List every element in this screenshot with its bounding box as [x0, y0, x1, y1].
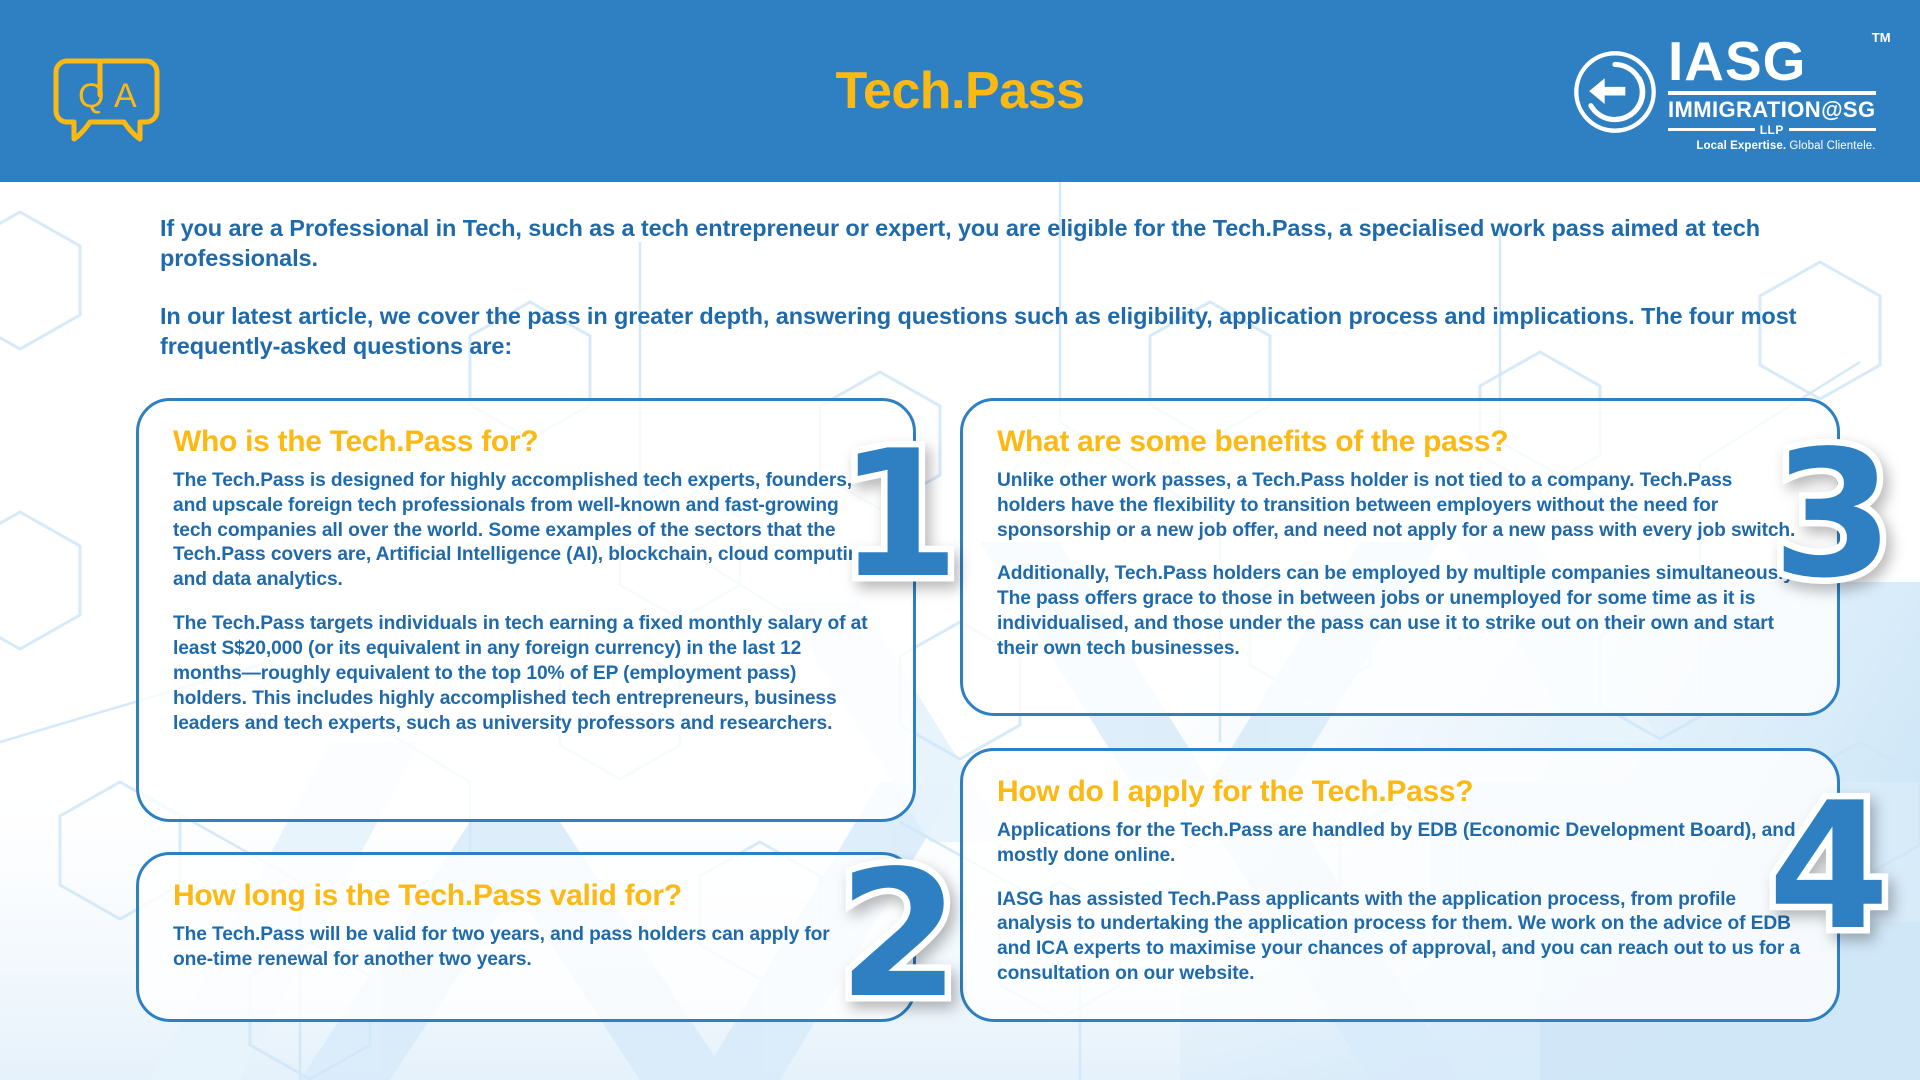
faq-card-1-heading: Who is the Tech.Pass for? [173, 425, 879, 459]
logo-trademark-symbol: TM [1872, 30, 1891, 45]
logo-tagline-regular: Global Clientele. [1786, 140, 1875, 152]
infographic-page: Q A Tech.Pass IASG TM IMMIGRATION@SG LLP [0, 0, 1920, 1080]
faq-card-3-number: 3 [1772, 428, 1894, 603]
intro-paragraph-1: If you are a Professional in Tech, such … [160, 214, 1800, 274]
faq-card-4-paragraph-2: IASG has assisted Tech.Pass applicants w… [997, 888, 1803, 988]
circular-arrow-logo-icon [1572, 49, 1658, 135]
faq-card-4-body: Applications for the Tech.Pass are handl… [997, 819, 1803, 988]
logo-subtitle: IMMIGRATION@SG [1668, 98, 1876, 121]
logo-tagline: Local Expertise. Global Clientele. [1668, 140, 1876, 152]
faq-card-3-body: Unlike other work passes, a Tech.Pass ho… [997, 469, 1803, 663]
faq-card-4-paragraph-1: Applications for the Tech.Pass are handl… [997, 819, 1803, 869]
faq-card-1-paragraph-2: The Tech.Pass targets individuals in tec… [173, 612, 873, 737]
logo-entity-row: LLP [1668, 123, 1876, 137]
faq-card-4-number: 4 [1768, 780, 1890, 955]
logo-entity-type: LLP [1760, 123, 1784, 137]
faq-card-3: What are some benefits of the pass? Unli… [960, 398, 1840, 716]
faq-card-2-body: The Tech.Pass will be valid for two year… [173, 923, 853, 973]
faq-card-1-paragraph-1: The Tech.Pass is designed for highly acc… [173, 469, 873, 594]
faq-card-2: How long is the Tech.Pass valid for? The… [136, 852, 916, 1022]
faq-card-2-heading: How long is the Tech.Pass valid for? [173, 879, 879, 913]
faq-card-1: Who is the Tech.Pass for? The Tech.Pass … [136, 398, 916, 822]
faq-card-3-heading: What are some benefits of the pass? [997, 425, 1803, 459]
faq-card-2-paragraph-1: The Tech.Pass will be valid for two year… [173, 923, 853, 973]
logo-tagline-bold: Local Expertise. [1696, 140, 1786, 152]
faq-card-2-number: 2 [838, 848, 960, 1023]
intro-paragraph-2: In our latest article, we cover the pass… [160, 302, 1800, 362]
logo-wordmark: IASG [1668, 36, 1876, 87]
iasg-logo: IASG TM IMMIGRATION@SG LLP Local Experti… [1572, 26, 1872, 158]
page-header: Q A Tech.Pass IASG TM IMMIGRATION@SG LLP [0, 0, 1920, 182]
faq-card-4-heading: How do I apply for the Tech.Pass? [997, 775, 1803, 809]
faq-card-1-number: 1 [838, 428, 960, 603]
faq-card-1-body: The Tech.Pass is designed for highly acc… [173, 469, 873, 738]
faq-card-3-paragraph-1: Unlike other work passes, a Tech.Pass ho… [997, 469, 1803, 544]
logo-bar-right [1789, 128, 1876, 131]
faq-card-3-paragraph-2: Additionally, Tech.Pass holders can be e… [997, 562, 1803, 662]
intro-section: If you are a Professional in Tech, such … [160, 214, 1800, 361]
faq-card-4: How do I apply for the Tech.Pass? Applic… [960, 748, 1840, 1022]
logo-bar-left [1668, 128, 1755, 131]
